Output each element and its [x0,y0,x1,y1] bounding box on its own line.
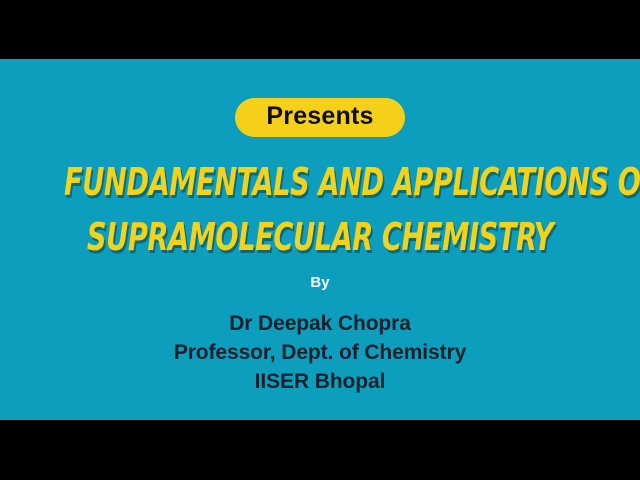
letterbox-bar-top [0,0,640,59]
title-slide: Presents FUNDAMENTALS AND APPLICATIONS O… [0,59,640,420]
author-block: Dr Deepak Chopra Professor, Dept. of Che… [174,309,466,396]
author-affiliation: Professor, Dept. of Chemistry [174,338,466,367]
author-name: Dr Deepak Chopra [174,309,466,338]
letterbox-bar-bottom [0,420,640,480]
by-label: By [310,275,329,292]
presentation-title: FUNDAMENTALS AND APPLICATIONS OF SUPRAMO… [0,155,640,265]
title-line-2: SUPRAMOLECULAR CHEMISTRY [64,210,576,265]
author-institution: IISER Bhopal [174,367,466,396]
presents-badge: Presents [235,98,404,137]
video-frame: Presents FUNDAMENTALS AND APPLICATIONS O… [0,0,640,480]
title-line-1: FUNDAMENTALS AND APPLICATIONS OF [64,155,576,210]
